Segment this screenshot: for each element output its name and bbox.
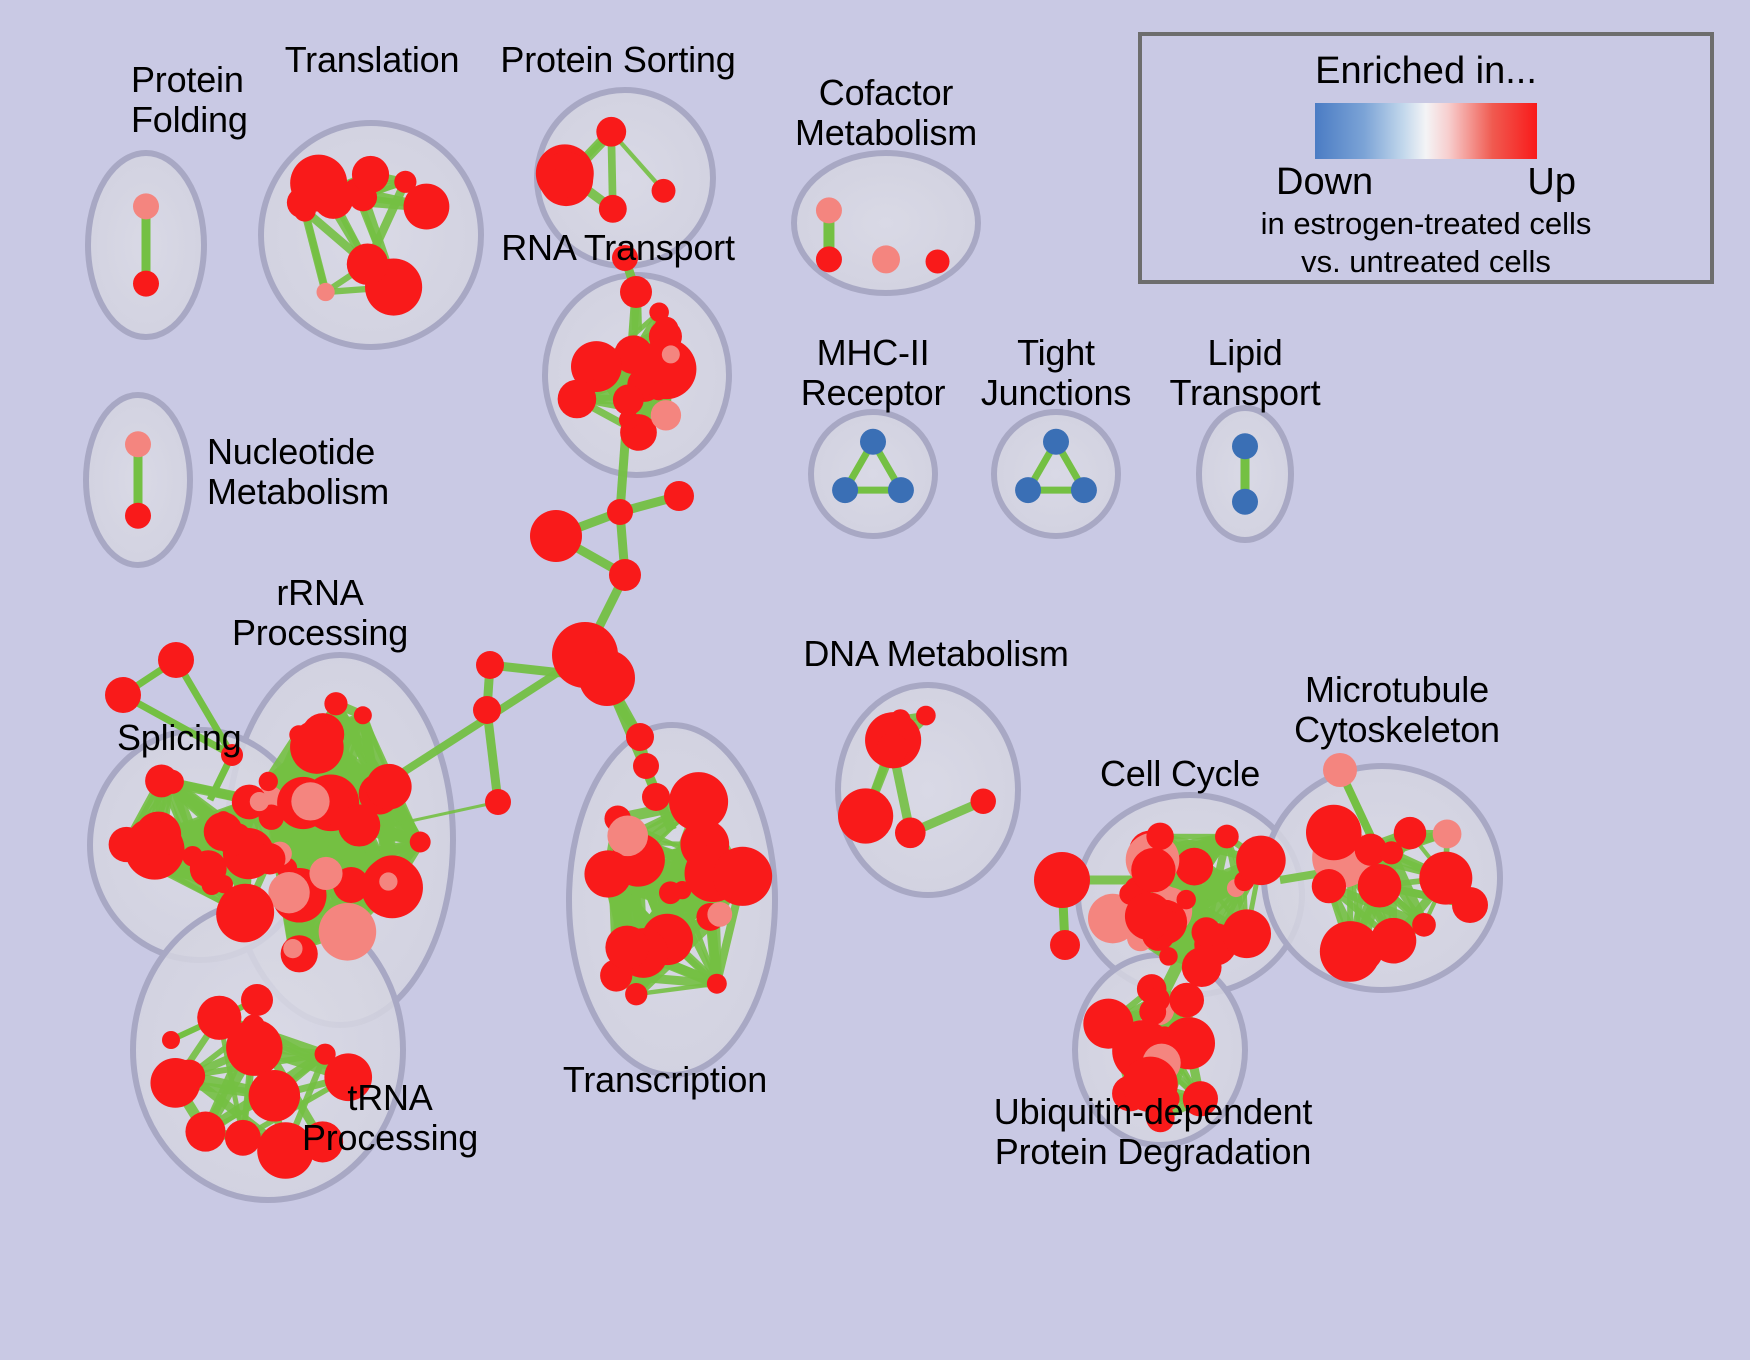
network-node[interactable] xyxy=(633,753,659,779)
network-node[interactable] xyxy=(877,733,908,764)
network-node[interactable] xyxy=(225,1120,261,1156)
network-node[interactable] xyxy=(599,195,627,223)
cluster-label-tight-junctions: Tight Junctions xyxy=(981,333,1131,414)
cluster-label-cell-cycle: Cell Cycle xyxy=(1100,754,1260,794)
network-node[interactable] xyxy=(620,276,652,308)
network-node[interactable] xyxy=(1083,999,1133,1049)
network-node[interactable] xyxy=(319,903,377,961)
network-node[interactable] xyxy=(546,168,577,199)
cluster-label-rrna-processing: rRNA Processing xyxy=(232,573,408,654)
network-node[interactable] xyxy=(1232,433,1258,459)
network-node[interactable] xyxy=(1176,890,1195,909)
network-node[interactable] xyxy=(1358,864,1402,908)
cluster-label-trna-processing: tRNA Processing xyxy=(302,1078,478,1159)
network-node[interactable] xyxy=(1323,753,1357,787)
network-node[interactable] xyxy=(664,481,694,511)
network-node[interactable] xyxy=(926,250,950,274)
cluster-label-dna-metabolism: DNA Metabolism xyxy=(803,634,1068,674)
network-node[interactable] xyxy=(651,400,681,430)
network-node[interactable] xyxy=(625,983,647,1005)
network-node[interactable] xyxy=(1015,477,1041,503)
legend-down-label: Down xyxy=(1276,161,1373,204)
network-node[interactable] xyxy=(662,345,680,363)
network-node[interactable] xyxy=(254,843,285,874)
network-node[interactable] xyxy=(259,772,278,791)
cluster-label-translation: Translation xyxy=(285,40,460,80)
network-node[interactable] xyxy=(1236,836,1286,886)
network-node[interactable] xyxy=(125,431,151,457)
network-node[interactable] xyxy=(485,789,511,815)
network-node[interactable] xyxy=(185,1112,225,1152)
network-node[interactable] xyxy=(410,832,431,853)
cluster-label-ubiquitin-protein-degradation: Ubiquitin-dependent Protein Degradation xyxy=(994,1092,1312,1173)
network-node[interactable] xyxy=(895,817,926,848)
network-node[interactable] xyxy=(309,857,342,890)
network-node[interactable] xyxy=(1191,917,1221,947)
network-node[interactable] xyxy=(619,410,638,429)
network-node[interactable] xyxy=(324,692,347,715)
cluster-label-cofactor-metabolism: Cofactor Metabolism xyxy=(795,73,977,154)
network-node[interactable] xyxy=(338,804,380,846)
network-node[interactable] xyxy=(151,859,171,879)
network-node[interactable] xyxy=(596,117,626,147)
network-node[interactable] xyxy=(283,939,302,958)
legend-up-label: Up xyxy=(1527,161,1576,204)
network-node[interactable] xyxy=(241,984,273,1016)
legend-subtitle-line2: vs. untreated cells xyxy=(1301,244,1551,280)
network-node[interactable] xyxy=(1312,869,1346,903)
network-node[interactable] xyxy=(530,510,582,562)
network-node[interactable] xyxy=(1232,489,1258,515)
network-node[interactable] xyxy=(916,706,936,726)
network-node[interactable] xyxy=(1222,909,1271,958)
cluster-label-lipid-transport: Lipid Transport xyxy=(1170,333,1321,414)
network-node[interactable] xyxy=(707,902,732,927)
network-node[interactable] xyxy=(287,187,318,218)
network-node[interactable] xyxy=(1306,805,1361,860)
network-node[interactable] xyxy=(1131,848,1175,892)
network-node[interactable] xyxy=(182,846,203,867)
network-node[interactable] xyxy=(607,499,633,525)
network-node[interactable] xyxy=(162,1031,180,1049)
network-node[interactable] xyxy=(133,271,159,297)
network-node[interactable] xyxy=(1433,820,1462,849)
network-node[interactable] xyxy=(1162,912,1181,931)
network-node[interactable] xyxy=(1175,848,1213,886)
network-node[interactable] xyxy=(1452,887,1488,923)
network-node[interactable] xyxy=(105,677,141,713)
network-node[interactable] xyxy=(394,171,416,193)
network-node[interactable] xyxy=(1394,817,1426,849)
network-node[interactable] xyxy=(347,243,388,284)
network-node[interactable] xyxy=(220,831,245,856)
network-node[interactable] xyxy=(473,696,501,724)
cluster-label-nucleotide-metabolism: Nucleotide Metabolism xyxy=(207,432,389,513)
network-node[interactable] xyxy=(890,709,910,729)
network-node[interactable] xyxy=(838,788,893,843)
network-node[interactable] xyxy=(354,706,372,724)
network-node[interactable] xyxy=(626,723,654,751)
cluster-label-protein-folding: Protein Folding xyxy=(131,60,248,141)
network-node[interactable] xyxy=(202,875,222,895)
network-node[interactable] xyxy=(1034,852,1090,908)
network-node[interactable] xyxy=(476,651,504,679)
network-node[interactable] xyxy=(607,815,648,856)
network-node[interactable] xyxy=(133,193,159,219)
legend-panel: Enriched in... Down Up in estrogen-treat… xyxy=(1138,32,1714,284)
network-node[interactable] xyxy=(317,283,335,301)
network-node[interactable] xyxy=(1050,930,1080,960)
network-node[interactable] xyxy=(352,156,389,193)
network-node[interactable] xyxy=(584,850,631,897)
network-node[interactable] xyxy=(216,887,272,943)
network-node[interactable] xyxy=(860,429,886,455)
network-node[interactable] xyxy=(1412,913,1436,937)
cluster-label-transcription: Transcription xyxy=(563,1060,767,1100)
network-node[interactable] xyxy=(1159,947,1177,965)
network-node[interactable] xyxy=(816,197,842,223)
network-node[interactable] xyxy=(713,847,772,906)
network-node[interactable] xyxy=(1043,429,1069,455)
network-node[interactable] xyxy=(583,344,621,382)
network-node[interactable] xyxy=(872,245,900,273)
network-node[interactable] xyxy=(145,764,178,797)
network-node[interactable] xyxy=(1169,983,1204,1018)
legend-title: Enriched in... xyxy=(1315,50,1537,93)
network-node[interactable] xyxy=(707,974,727,994)
network-node[interactable] xyxy=(127,819,172,864)
network-node[interactable] xyxy=(652,179,676,203)
network-node[interactable] xyxy=(125,503,151,529)
network-node[interactable] xyxy=(1146,823,1173,850)
legend-subtitle-line1: in estrogen-treated cells xyxy=(1261,206,1592,242)
network-node[interactable] xyxy=(970,788,995,813)
cluster-label-mhc-ii-receptor: MHC-II Receptor xyxy=(801,333,945,414)
network-node[interactable] xyxy=(294,746,316,768)
network-node[interactable] xyxy=(558,380,597,419)
network-node[interactable] xyxy=(379,872,397,890)
network-node[interactable] xyxy=(249,1070,300,1121)
network-node[interactable] xyxy=(832,477,858,503)
network-node[interactable] xyxy=(250,792,269,811)
cluster-label-rna-transport: RNA Transport xyxy=(501,228,735,268)
network-node[interactable] xyxy=(669,772,728,831)
network-node[interactable] xyxy=(366,764,412,810)
network-node[interactable] xyxy=(579,650,635,706)
network-node[interactable] xyxy=(158,642,194,678)
network-node[interactable] xyxy=(197,996,241,1040)
network-node[interactable] xyxy=(888,477,914,503)
enrichment-map-figure: Protein FoldingTranslationProtein Sortin… xyxy=(0,0,1750,1360)
network-node[interactable] xyxy=(1182,947,1222,987)
network-node[interactable] xyxy=(654,317,679,342)
network-node[interactable] xyxy=(1071,477,1097,503)
network-node[interactable] xyxy=(605,926,649,970)
legend-endpoints: Down Up xyxy=(1276,161,1576,204)
network-node[interactable] xyxy=(150,1058,200,1108)
network-node[interactable] xyxy=(291,782,329,820)
cluster-label-splicing: Splicing xyxy=(117,718,241,758)
network-node[interactable] xyxy=(609,559,641,591)
cluster-label-microtubule-cytoskeleton: Microtubule Cytoskeleton xyxy=(1294,670,1500,751)
legend-color-gradient xyxy=(1315,103,1537,159)
network-node[interactable] xyxy=(1215,825,1239,849)
network-node[interactable] xyxy=(268,872,309,913)
network-node[interactable] xyxy=(649,382,668,401)
network-node[interactable] xyxy=(816,246,842,272)
network-node[interactable] xyxy=(1320,921,1381,982)
network-node[interactable] xyxy=(642,783,670,811)
cluster-label-protein-sorting: Protein Sorting xyxy=(500,40,735,80)
